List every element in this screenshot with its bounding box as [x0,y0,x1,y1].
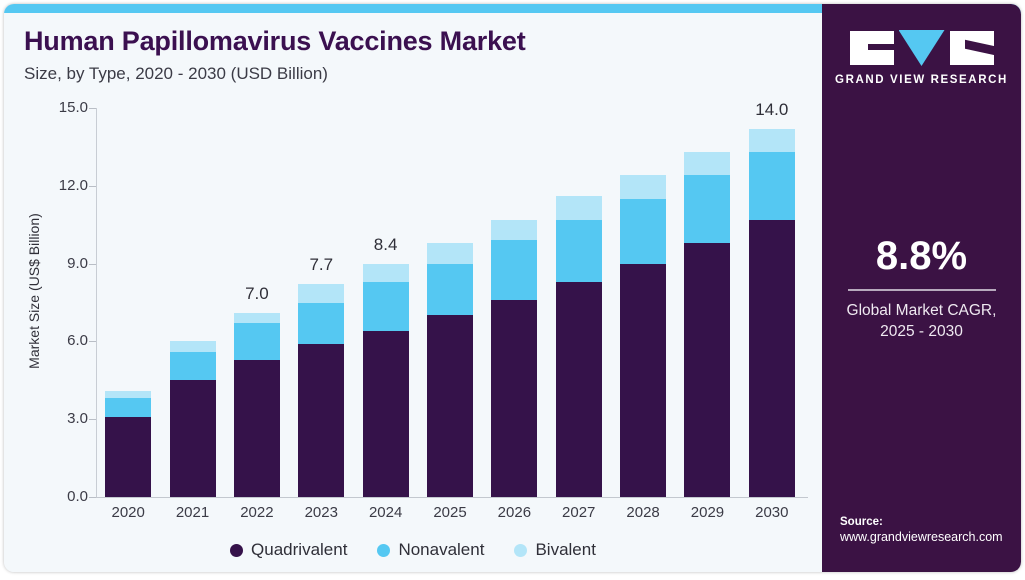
y-axis-tick-mark [89,264,96,265]
bar-group[interactable] [105,13,151,497]
bar-segment-nonavalent[interactable] [684,175,730,242]
letter-r-mark-icon [950,31,994,65]
x-axis-tick-label: 2023 [286,504,356,521]
bar-group[interactable]: 7.0 [234,13,280,497]
cagr-caption-line2: 2025 - 2030 [822,322,1021,343]
legend-color-swatch-icon [514,544,527,557]
x-axis-tick-label: 2026 [479,504,549,521]
x-axis-tick-label: 2029 [672,504,742,521]
source-block: Source: www.grandviewresearch.com [840,516,1015,544]
y-axis-tick-label: 9.0 [28,255,88,272]
bar-segment-quadrivalent[interactable] [298,344,344,497]
bar-segment-quadrivalent[interactable] [234,360,280,497]
legend-color-swatch-icon [377,544,390,557]
bar-segment-nonavalent[interactable] [105,398,151,416]
logo-wordmark: GRAND VIEW RESEARCH [822,74,1021,86]
bar-segment-bivalent[interactable] [620,175,666,198]
bar-segment-bivalent[interactable] [363,264,409,282]
cagr-caption-line1: Global Market CAGR, [822,301,1021,322]
legend-label: Nonavalent [398,540,484,560]
bar-segment-bivalent[interactable] [749,129,795,152]
bar-segment-nonavalent[interactable] [298,303,344,344]
x-axis-tick-label: 2020 [93,504,163,521]
bar-group[interactable] [556,13,602,497]
bar-group[interactable] [427,13,473,497]
bar-segment-quadrivalent[interactable] [427,315,473,497]
bar-group[interactable] [491,13,537,497]
bar-group[interactable]: 14.0 [749,13,795,497]
bar-segment-quadrivalent[interactable] [105,417,151,497]
bar-group[interactable]: 8.4 [363,13,409,497]
y-axis-tick-mark [89,186,96,187]
bar-segment-bivalent[interactable] [556,196,602,219]
y-axis-ticks: 0.03.06.09.012.015.0 [26,13,88,572]
plot-area: 7.07.78.414.0 [96,13,804,572]
bar-segment-bivalent[interactable] [234,313,280,323]
x-axis-tick-label: 2030 [737,504,807,521]
bar-segment-bivalent[interactable] [170,341,216,351]
y-axis-tick-mark [89,497,96,498]
x-axis-tick-label: 2024 [351,504,421,521]
bar-segment-bivalent[interactable] [298,284,344,302]
chart-region: Human Papillomavirus Vaccines Market Siz… [4,13,822,572]
chart-legend: QuadrivalentNonavalentBivalent [4,540,822,560]
grand-view-research-logo: GRAND VIEW RESEARCH [822,30,1021,88]
y-axis-tick-mark [89,341,96,342]
x-axis-tick-label: 2027 [544,504,614,521]
bar-group[interactable]: 7.7 [298,13,344,497]
bar-value-label: 8.4 [374,235,398,255]
bar-segment-quadrivalent[interactable] [620,264,666,497]
legend-item[interactable]: Quadrivalent [230,540,347,560]
x-axis-tick-label: 2022 [222,504,292,521]
legend-color-swatch-icon [230,544,243,557]
bar-segment-bivalent[interactable] [427,243,473,264]
cagr-block: 8.8% Global Market CAGR, 2025 - 2030 [822,236,1021,343]
bar-value-label: 7.7 [309,255,333,275]
cagr-value: 8.8% [822,236,1021,276]
bar-group[interactable] [170,13,216,497]
bar-segment-nonavalent[interactable] [491,240,537,300]
y-axis-tick-mark [89,108,96,109]
bar-group[interactable] [620,13,666,497]
letter-g-mark-icon [850,31,894,65]
bar-segment-quadrivalent[interactable] [363,331,409,497]
x-axis-tick-label: 2028 [608,504,678,521]
bar-group[interactable] [684,13,730,497]
x-axis-tick-label: 2021 [158,504,228,521]
letter-v-triangle-mark-icon [899,30,945,66]
bar-segment-nonavalent[interactable] [234,323,280,359]
bar-segment-nonavalent[interactable] [363,282,409,331]
logo-marks [822,30,1021,66]
legend-label: Bivalent [535,540,595,560]
source-url: www.grandviewresearch.com [840,530,1015,544]
y-axis-tick-mark [89,419,96,420]
bar-segment-bivalent[interactable] [105,391,151,399]
bar-segment-bivalent[interactable] [491,220,537,241]
bar-segment-nonavalent[interactable] [170,352,216,381]
bar-segment-nonavalent[interactable] [620,199,666,264]
brand-side-panel: GRAND VIEW RESEARCH 8.8% Global Market C… [822,4,1021,572]
legend-label: Quadrivalent [251,540,347,560]
legend-item[interactable]: Nonavalent [377,540,484,560]
source-label: Source: [840,516,1015,528]
bar-segment-nonavalent[interactable] [556,220,602,282]
bar-segment-quadrivalent[interactable] [170,380,216,497]
x-axis-tick-label: 2025 [415,504,485,521]
y-axis-tick-label: 12.0 [28,177,88,194]
y-axis-tick-label: 3.0 [28,410,88,427]
y-axis-tick-label: 0.0 [28,488,88,505]
bar-segment-bivalent[interactable] [684,152,730,175]
bar-segment-quadrivalent[interactable] [749,220,795,497]
bar-segment-quadrivalent[interactable] [684,243,730,497]
chart-card: Human Papillomavirus Vaccines Market Siz… [4,4,1021,572]
bar-segment-nonavalent[interactable] [749,152,795,219]
bar-segment-nonavalent[interactable] [427,264,473,316]
cagr-divider [848,289,996,291]
bar-value-label: 7.0 [245,284,269,304]
legend-item[interactable]: Bivalent [514,540,595,560]
y-axis-tick-label: 15.0 [28,99,88,116]
bar-value-label: 14.0 [755,100,788,120]
y-axis-tick-label: 6.0 [28,332,88,349]
bar-segment-quadrivalent[interactable] [491,300,537,497]
bar-segment-quadrivalent[interactable] [556,282,602,497]
